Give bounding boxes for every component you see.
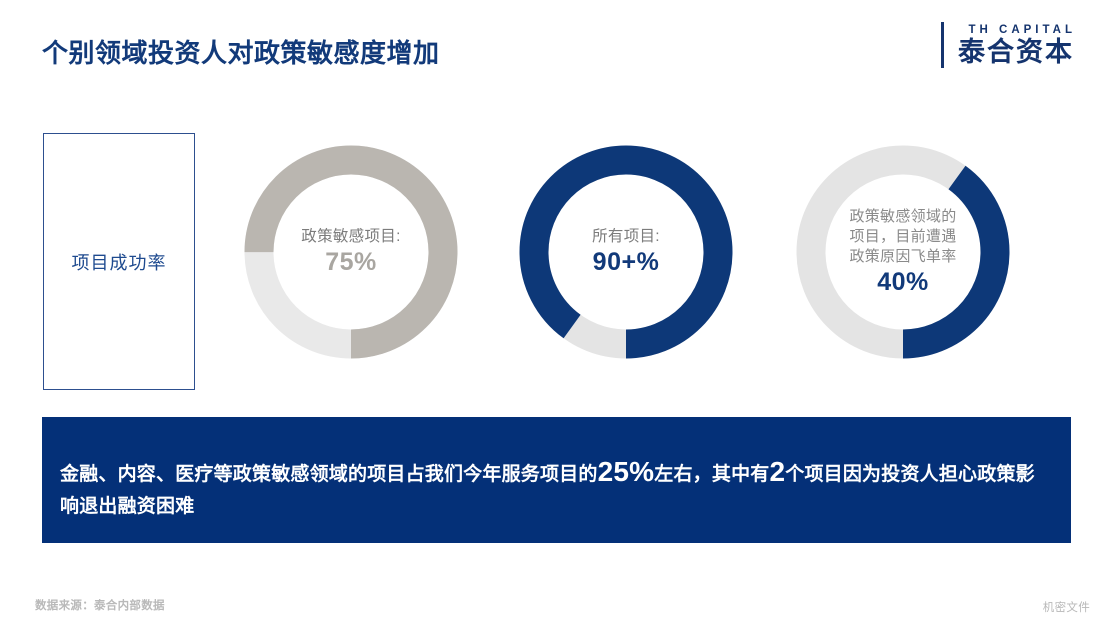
page-title: 个别领域投资人对政策敏感度增加 <box>42 33 440 70</box>
donut-2-value-arc <box>534 160 718 344</box>
banner-highlight-percent: 25% <box>598 456 655 487</box>
logo-english-name: TH CAPITAL <box>968 24 1076 38</box>
logo-text-group: TH CAPITAL 泰合资本 <box>958 22 1072 68</box>
success-rate-label-box: 项目成功率 <box>43 133 195 390</box>
banner-text-part-1: 金融、内容、医疗等政策敏感领域的项目占我们今年服务项目的 <box>60 464 598 485</box>
brand-logo: TH CAPITAL 泰合资本 <box>941 22 1072 68</box>
donut-2-svg <box>511 137 741 367</box>
donut-chart-policy-dropout-rate: 政策敏感领域的 项目，目前遭遇 政策原因飞单率 40% <box>788 137 1018 367</box>
donut-chart-group: 政策敏感项目: 75% 所有项目: 90+% 政策敏感领域的 项目，目前遭遇 政… <box>230 137 1030 377</box>
donut-3-svg <box>788 137 1018 367</box>
success-rate-label: 项目成功率 <box>72 249 167 275</box>
donut-chart-all-projects-success: 所有项目: 90+% <box>511 137 741 367</box>
banner-highlight-count: 2 <box>769 456 785 487</box>
logo-chinese-name: 泰合资本 <box>958 38 1074 66</box>
donut-chart-policy-sensitive-success: 政策敏感项目: 75% <box>236 137 466 367</box>
banner-text-part-2: 左右，其中有 <box>654 464 769 485</box>
summary-banner: 金融、内容、医疗等政策敏感领域的项目占我们今年服务项目的25%左右，其中有2个项… <box>42 417 1071 543</box>
summary-banner-text: 金融、内容、医疗等政策敏感领域的项目占我们今年服务项目的25%左右，其中有2个项… <box>60 451 1049 522</box>
footer-confidential-mark: 机密文件 <box>1043 599 1090 615</box>
logo-divider-rule <box>941 22 944 68</box>
footer-data-source: 数据来源：泰合内部数据 <box>35 597 165 613</box>
donut-1-svg <box>236 137 466 367</box>
